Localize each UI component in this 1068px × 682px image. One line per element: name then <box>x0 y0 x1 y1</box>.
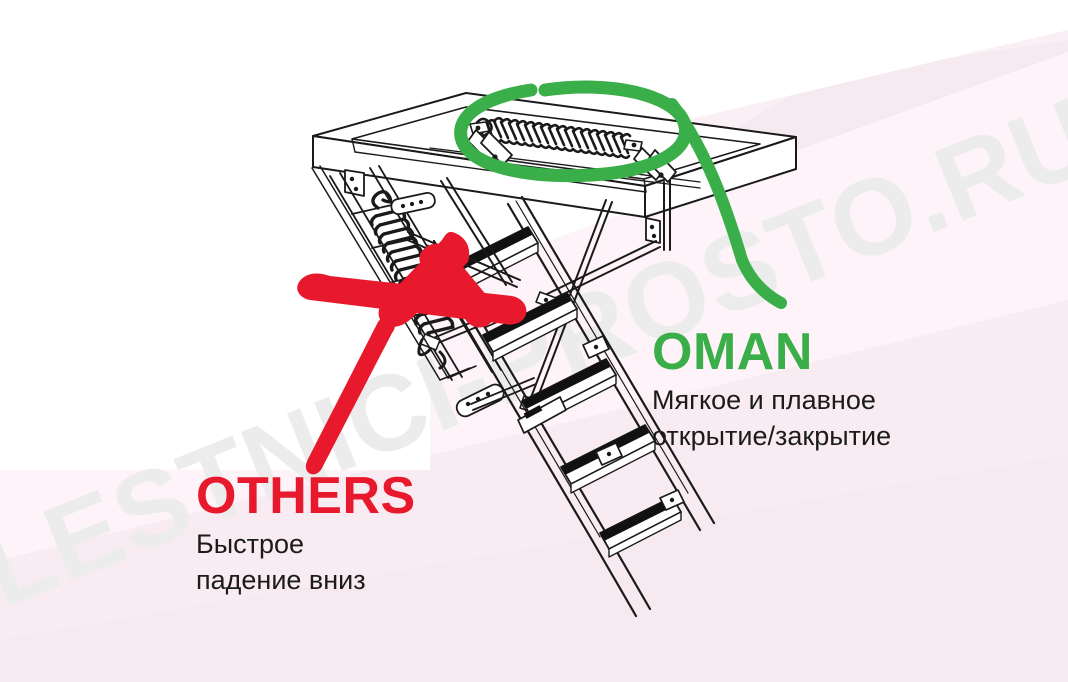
oman-subtitle-line-1: Мягкое и плавное <box>652 383 891 419</box>
others-subtitle-line-1: Быстрое <box>196 527 416 563</box>
callout-text-layer: OMAN Мягкое и плавное открытие/закрытие … <box>0 0 1068 682</box>
callout-oman: OMAN Мягкое и плавное открытие/закрытие <box>652 326 891 454</box>
others-subtitle: Быстрое падение вниз <box>196 527 416 598</box>
oman-title: OMAN <box>652 326 891 379</box>
others-title: OTHERS <box>196 470 416 523</box>
oman-subtitle-line-2: открытие/закрытие <box>652 419 891 455</box>
illustration-canvas: LESTNICI-PROSTO.RU <box>0 0 1068 682</box>
callout-others: OTHERS Быстрое падение вниз <box>196 470 416 598</box>
oman-subtitle: Мягкое и плавное открытие/закрытие <box>652 383 891 454</box>
others-subtitle-line-2: падение вниз <box>196 563 416 599</box>
